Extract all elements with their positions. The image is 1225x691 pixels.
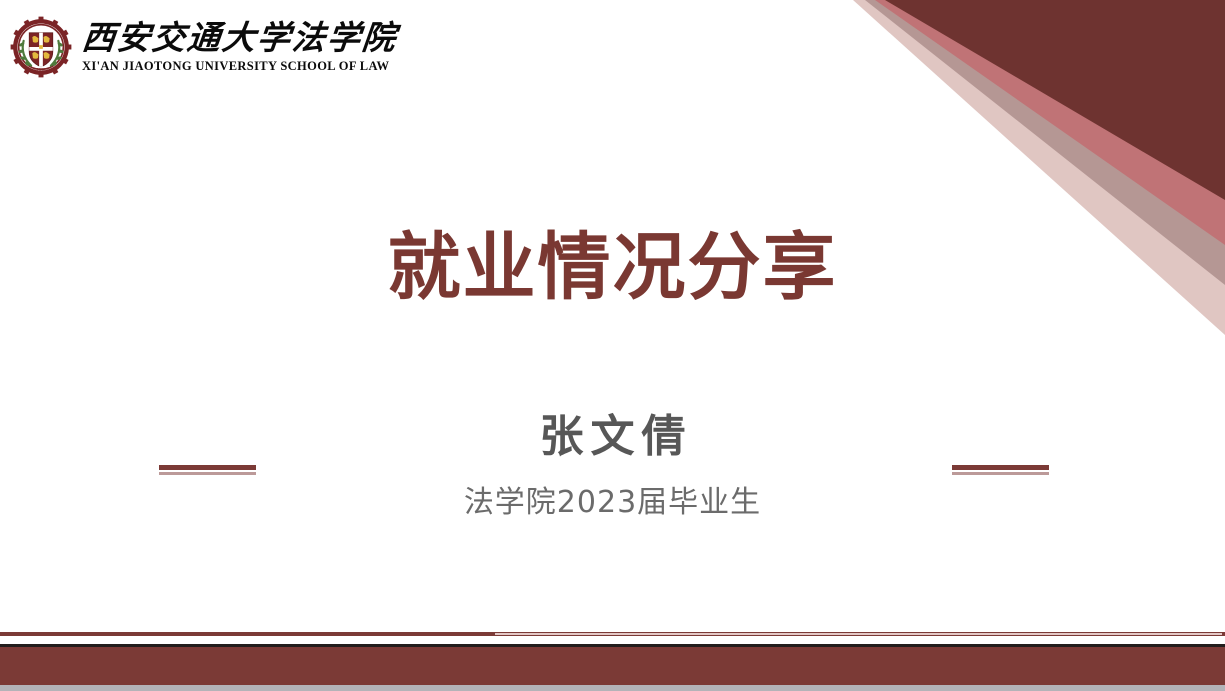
footer-hairline-left <box>0 632 495 636</box>
right-rule-light-bar <box>952 472 1049 475</box>
right-decorative-rule <box>952 465 1049 475</box>
footer-hairline-accent <box>495 633 1222 635</box>
presenter-name: 张文倩 <box>0 412 1225 463</box>
left-decorative-rule <box>159 465 256 475</box>
crest-year-label: 1896 <box>37 67 46 72</box>
slide-title: 就业情况分享 <box>0 228 1225 308</box>
presentation-slide: 1896 西安交通大学法学院 XI'AN JIAOTONG UNIVERSITY… <box>0 0 1225 691</box>
footer-hairline <box>0 632 1225 636</box>
heraldic-shield <box>29 33 53 67</box>
xjtu-crest-icon: 1896 <box>10 16 72 78</box>
footer-base-strip <box>0 685 1225 691</box>
crest-shapes: 1896 <box>10 16 72 78</box>
right-rule-dark-bar <box>952 465 1049 470</box>
logo-text-block: 西安交通大学法学院 XI'AN JIAOTONG UNIVERSITY SCHO… <box>82 20 397 73</box>
presenter-role: 法学院2023届毕业生 <box>0 485 1225 521</box>
ribbon-band-rose <box>875 0 1225 245</box>
school-logo-lockup: 1896 西安交通大学法学院 XI'AN JIAOTONG UNIVERSITY… <box>10 16 397 78</box>
title-block: 就业情况分享 <box>0 228 1225 308</box>
ribbon-band-dark <box>885 0 1225 200</box>
left-rule-light-bar <box>159 472 256 475</box>
footer-band <box>0 647 1225 685</box>
left-rule-dark-bar <box>159 465 256 470</box>
logo-chinese-name: 西安交通大学法学院 <box>80 22 399 57</box>
logo-english-name: XI'AN JIAOTONG UNIVERSITY SCHOOL OF LAW <box>82 60 397 74</box>
